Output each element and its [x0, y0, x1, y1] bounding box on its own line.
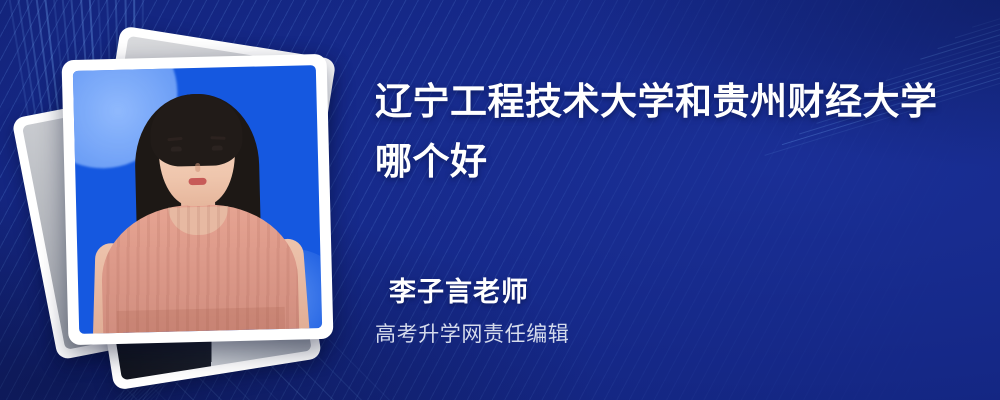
portrait-eye-left [170, 146, 181, 151]
article-title: 辽宁工程技术大学和贵州财经大学 哪个好 [375, 72, 955, 192]
article-cover-banner: 辽宁工程技术大学和贵州财经大学 哪个好 李子言老师 高考升学网责任编辑 [0, 0, 1000, 400]
article-title-line-2: 哪个好 [375, 141, 488, 182]
portrait-photo-card [62, 54, 334, 345]
portrait-dress-waist [116, 307, 284, 333]
cover-text-column: 辽宁工程技术大学和贵州财经大学 哪个好 李子言老师 高考升学网责任编辑 [375, 0, 975, 400]
portrait-figure [73, 65, 322, 334]
portrait-mouth [188, 178, 206, 185]
author-role: 高考升学网责任编辑 [375, 318, 569, 348]
portrait-nose [195, 163, 200, 172]
portrait-eye-right [211, 145, 222, 150]
photo-card-stack [45, 45, 345, 355]
author-name: 李子言老师 [389, 270, 529, 309]
portrait-photo [73, 65, 322, 334]
article-title-line-1: 辽宁工程技术大学和贵州财经大学 [375, 81, 938, 122]
